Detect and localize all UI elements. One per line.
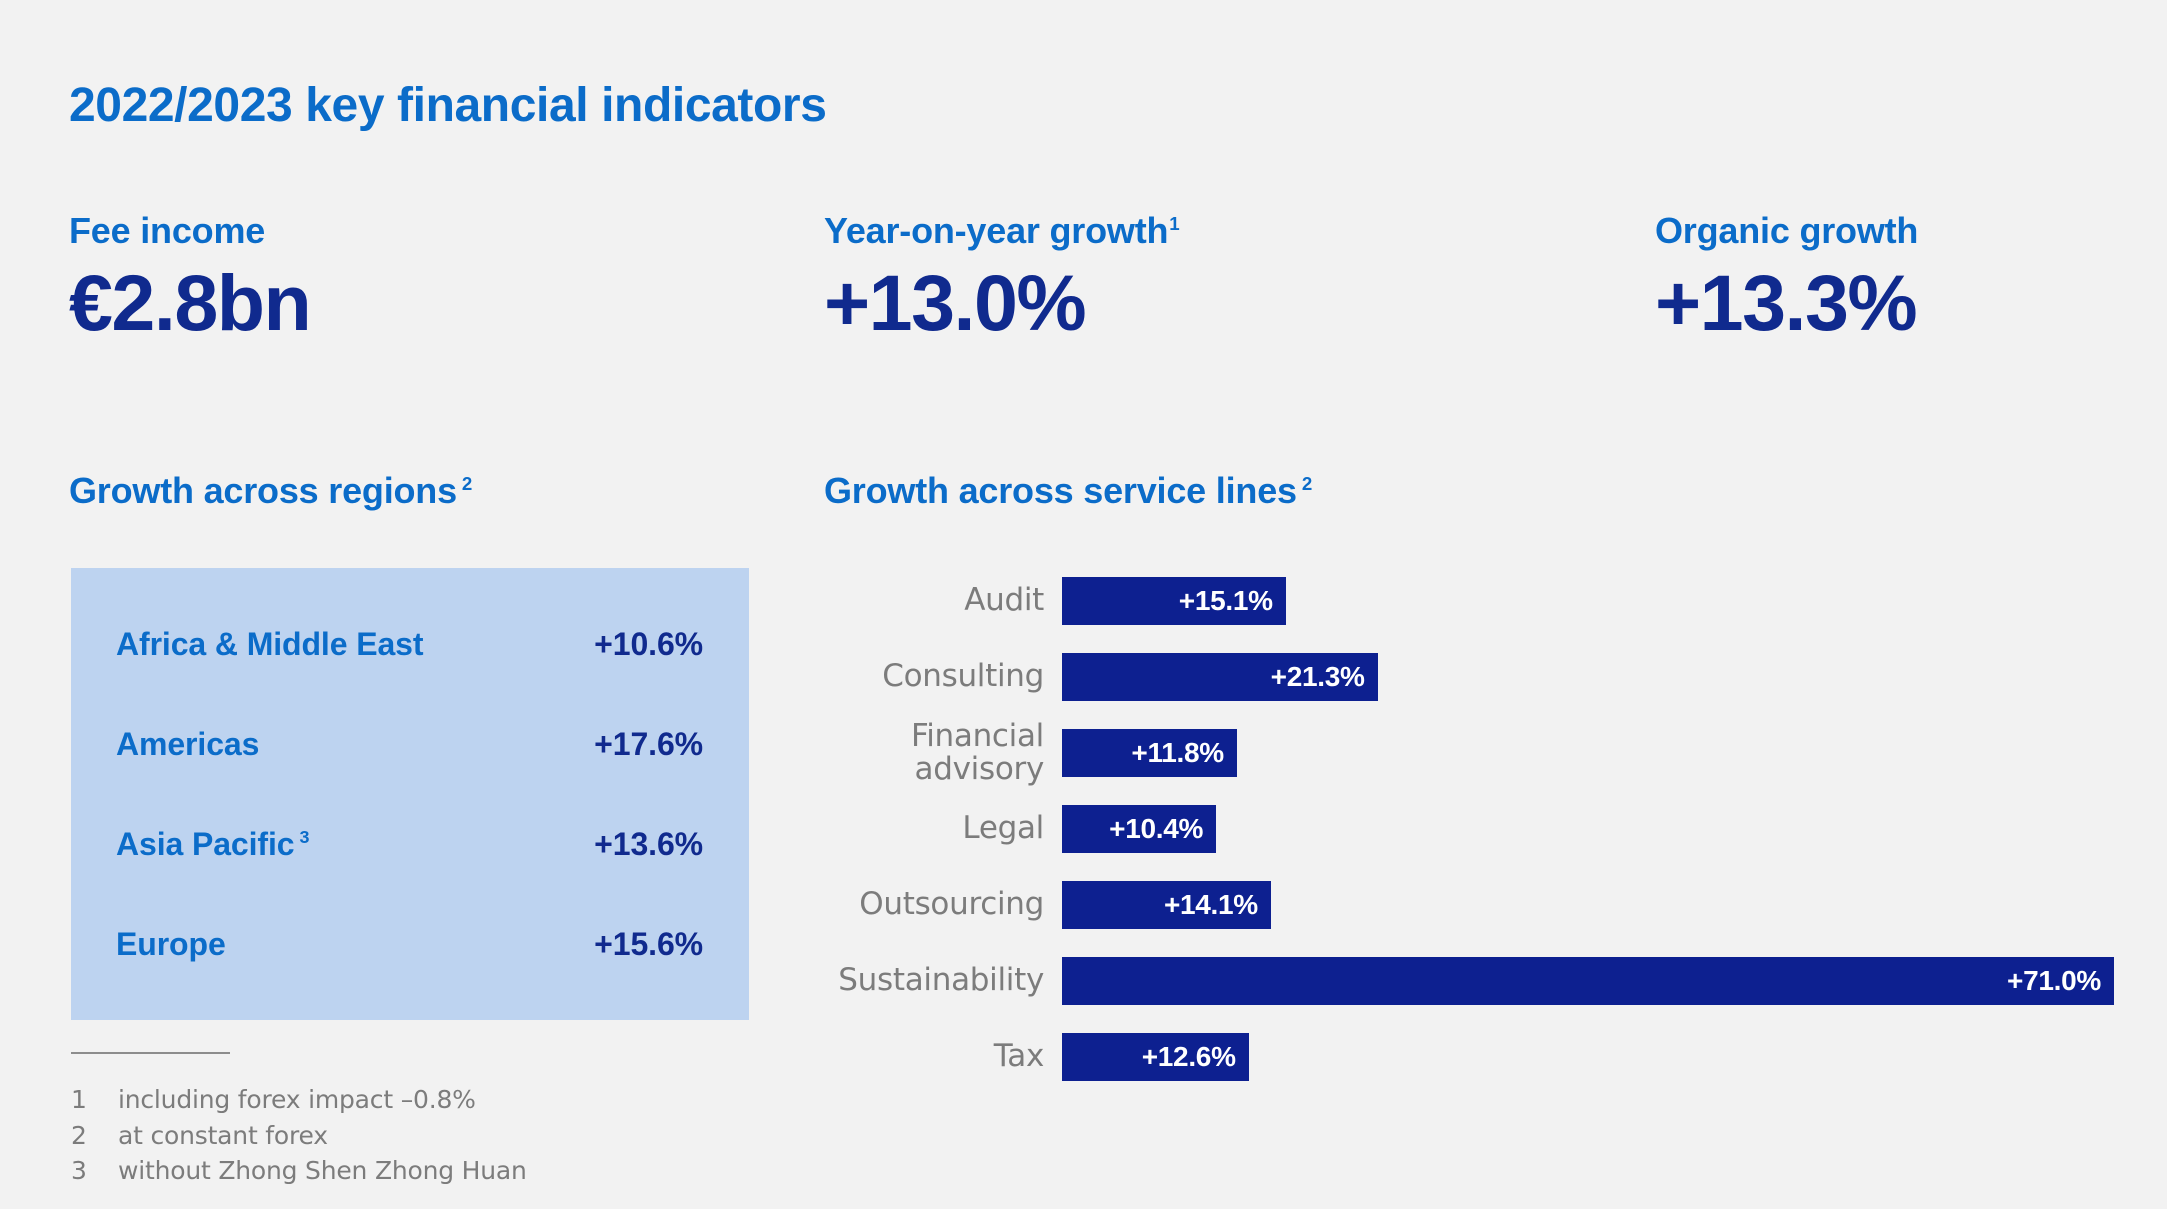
bar-row: Consulting +21.3% <box>824 639 2114 715</box>
footnote-item: 3 without Zhong Shen Zhong Huan <box>71 1153 671 1189</box>
bar-value-label: +10.4% <box>1109 813 1203 845</box>
table-row: Africa & Middle East +10.6% <box>116 594 703 694</box>
section-heading-text: Growth across service lines <box>824 470 1297 511</box>
bar-row: Outsourcing +14.1% <box>824 867 2114 943</box>
bar-track: +12.6% <box>1062 1033 2114 1081</box>
region-name: Asia Pacific3 <box>116 826 309 863</box>
kpi-year-on-year-growth: Year-on-year growth1 +13.0% <box>824 212 1180 345</box>
region-value: +13.6% <box>594 826 703 863</box>
region-name-text: Americas <box>116 726 259 762</box>
bar-row: Sustainability +71.0% <box>824 943 2114 1019</box>
region-name-text: Asia Pacific <box>116 826 294 862</box>
bar-track: +10.4% <box>1062 805 2114 853</box>
footnote-number: 1 <box>71 1082 118 1118</box>
page-title: 2022/2023 key financial indicators <box>69 78 827 133</box>
kpi-label: Year-on-year growth1 <box>824 212 1180 250</box>
bar-category-label: Financial advisory <box>824 720 1062 787</box>
kpi-value: €2.8bn <box>69 262 310 345</box>
bar-value-label: +15.1% <box>1179 585 1273 617</box>
kpi-label: Fee income <box>69 212 310 250</box>
bar: +21.3% <box>1062 653 1378 701</box>
footnote-item: 1 including forex impact –0.8% <box>71 1082 671 1118</box>
kpi-label-text: Year-on-year growth <box>824 210 1168 251</box>
bar-row: Audit +15.1% <box>824 563 2114 639</box>
bar-track: +21.3% <box>1062 653 2114 701</box>
bar-track: +15.1% <box>1062 577 2114 625</box>
footnote-marker: 1 <box>1169 213 1179 234</box>
bar-category-label: Legal <box>824 812 1062 845</box>
footnote-number: 3 <box>71 1153 118 1189</box>
table-row: Asia Pacific3 +13.6% <box>116 794 703 894</box>
section-heading-regions: Growth across regions2 <box>69 470 472 512</box>
footnote-text: including forex impact –0.8% <box>118 1082 476 1118</box>
bar-track: +11.8% <box>1062 729 2114 777</box>
bar-category-label: Consulting <box>824 660 1062 693</box>
region-name: Americas <box>116 726 259 763</box>
bar-row: Financial advisory +11.8% <box>824 715 2114 791</box>
footnote-divider <box>71 1052 230 1054</box>
footnote-text: without Zhong Shen Zhong Huan <box>118 1153 527 1189</box>
footnote-item: 2 at constant forex <box>71 1118 671 1154</box>
kpi-label-text: Fee income <box>69 210 265 251</box>
region-name: Africa & Middle East <box>116 626 423 663</box>
footnote-text: at constant forex <box>118 1118 328 1154</box>
kpi-value: +13.0% <box>824 262 1180 345</box>
region-value: +10.6% <box>594 626 703 663</box>
bar-value-label: +11.8% <box>1131 737 1223 769</box>
kpi-label: Organic growth <box>1655 212 1918 250</box>
regions-table: Africa & Middle East +10.6% Americas +17… <box>71 568 749 1020</box>
section-heading-service-lines: Growth across service lines2 <box>824 470 1312 512</box>
kpi-organic-growth: Organic growth +13.3% <box>1655 212 1918 345</box>
bar-category-label: Tax <box>824 1040 1062 1073</box>
footnote-marker: 2 <box>462 473 472 494</box>
table-row: Americas +17.6% <box>116 694 703 794</box>
bar: +12.6% <box>1062 1033 1249 1081</box>
service-lines-bar-chart: Audit +15.1% Consulting +21.3% Financial… <box>824 563 2114 1095</box>
infographic-page: 2022/2023 key financial indicators Fee i… <box>0 0 2167 1209</box>
bar-track: +14.1% <box>1062 881 2114 929</box>
section-heading-text: Growth across regions <box>69 470 457 511</box>
footnote-marker: 3 <box>299 827 309 847</box>
bar: +11.8% <box>1062 729 1237 777</box>
bar-value-label: +21.3% <box>1271 661 1365 693</box>
bar-row: Tax +12.6% <box>824 1019 2114 1095</box>
region-name-text: Europe <box>116 926 226 962</box>
region-value: +15.6% <box>594 926 703 963</box>
bar-track: +71.0% <box>1062 957 2114 1005</box>
bar-category-label: Sustainability <box>824 964 1062 997</box>
kpi-label-text: Organic growth <box>1655 210 1918 251</box>
kpi-fee-income: Fee income €2.8bn <box>69 212 310 345</box>
bar: +15.1% <box>1062 577 1286 625</box>
bar-value-label: +71.0% <box>2007 965 2101 997</box>
table-row: Europe +15.6% <box>116 894 703 994</box>
bar: +10.4% <box>1062 805 1216 853</box>
bar-category-label: Audit <box>824 584 1062 617</box>
bar-value-label: +12.6% <box>1142 1041 1236 1073</box>
bar: +14.1% <box>1062 881 1271 929</box>
bar-row: Legal +10.4% <box>824 791 2114 867</box>
kpi-value: +13.3% <box>1655 262 1918 345</box>
bar-value-label: +14.1% <box>1164 889 1258 921</box>
bar-category-label: Outsourcing <box>824 888 1062 921</box>
footnotes: 1 including forex impact –0.8% 2 at cons… <box>71 1052 671 1189</box>
region-name-text: Africa & Middle East <box>116 626 423 662</box>
footnote-number: 2 <box>71 1118 118 1154</box>
bar: +71.0% <box>1062 957 2114 1005</box>
footnote-marker: 2 <box>1302 473 1312 494</box>
region-value: +17.6% <box>594 726 703 763</box>
region-name: Europe <box>116 926 226 963</box>
